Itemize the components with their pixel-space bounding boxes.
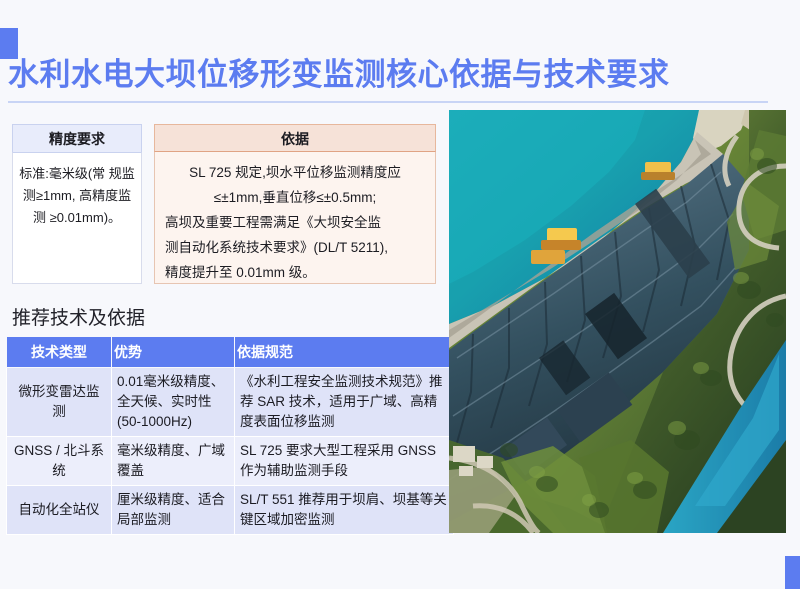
precision-line-4: ≥0.01mm)。 <box>50 210 121 225</box>
table-row: GNSS / 北斗系统 毫米级精度、广域覆盖 SL 725 要求大型工程采用 G… <box>7 437 454 486</box>
recommended-technology-table: 技术类型 优势 依据规范 微形变雷达监测 0.01毫米级精度、全天候、实时性(5… <box>6 337 454 535</box>
section-heading-recommended-tech: 推荐技术及依据 <box>12 303 145 330</box>
cell-advantage: 0.01毫米级精度、全天候、实时性(50-1000Hz) <box>112 368 235 437</box>
table-row: 微形变雷达监测 0.01毫米级精度、全天候、实时性(50-1000Hz) 《水利… <box>7 368 454 437</box>
info-boxes-row: 精度要求 标准:毫米级(常 规监测≥1mm, 高精度监测 ≥0.01mm)。 依… <box>12 124 436 284</box>
basis-box-body: SL 725 规定,坝水平位移监测精度应 ≤±1mm,垂直位移≤±0.5mm; … <box>154 152 436 284</box>
basis-line-1: SL 725 规定,坝水平位移监测精度应 <box>165 160 425 185</box>
precision-requirement-box: 精度要求 标准:毫米级(常 规监测≥1mm, 高精度监测 ≥0.01mm)。 <box>12 124 142 284</box>
slide-root: 水利水电大坝位移形变监测核心依据与技术要求 精度要求 标准:毫米级(常 规监测≥… <box>0 0 800 589</box>
basis-line-3: 高坝及重要工程需满足《大坝安全监 <box>165 210 425 235</box>
basis-line-2: ≤±1mm,垂直位移≤±0.5mm; <box>165 185 425 210</box>
basis-box: 依据 SL 725 规定,坝水平位移监测精度应 ≤±1mm,垂直位移≤±0.5m… <box>154 124 436 284</box>
table-row: 自动化全站仪 厘米级精度、适合局部监测 SL/T 551 推荐用于坝肩、坝基等关… <box>7 486 454 535</box>
table-header-row: 技术类型 优势 依据规范 <box>7 337 454 368</box>
precision-box-body: 标准:毫米级(常 规监测≥1mm, 高精度监测 ≥0.01mm)。 <box>12 152 142 284</box>
basis-line-5: 精度提升至 0.01mm 级。 <box>165 260 425 285</box>
cell-advantage: 厘米级精度、适合局部监测 <box>112 486 235 535</box>
cell-advantage: 毫米级精度、广域覆盖 <box>112 437 235 486</box>
basis-box-header: 依据 <box>154 124 436 152</box>
table-header-tech-type: 技术类型 <box>7 337 112 368</box>
table-header-advantage: 优势 <box>112 337 235 368</box>
top-left-accent-bar <box>0 28 18 59</box>
aerial-dam-illustration <box>449 110 786 533</box>
page-title: 水利水电大坝位移形变监测核心依据与技术要求 <box>8 58 778 92</box>
precision-line-1: 标准:毫米级(常 <box>19 166 105 181</box>
bottom-right-accent-bar <box>785 556 800 589</box>
aerial-dam-photo <box>449 110 786 533</box>
title-underline-rule <box>8 101 768 103</box>
table-header-standard: 依据规范 <box>235 337 454 368</box>
precision-box-header: 精度要求 <box>12 124 142 152</box>
cell-standard: SL/T 551 推荐用于坝肩、坝基等关键区域加密监测 <box>235 486 454 535</box>
cell-tech-type: GNSS / 北斗系统 <box>7 437 112 486</box>
cell-standard: SL 725 要求大型工程采用 GNSS 作为辅助监测手段 <box>235 437 454 486</box>
basis-line-4: 测自动化系统技术要求》(DL/T 5211), <box>165 235 425 260</box>
cell-tech-type: 自动化全站仪 <box>7 486 112 535</box>
cell-standard: 《水利工程安全监测技术规范》推荐 SAR 技术，适用于广域、高精度表面位移监测 <box>235 368 454 437</box>
cell-tech-type: 微形变雷达监测 <box>7 368 112 437</box>
